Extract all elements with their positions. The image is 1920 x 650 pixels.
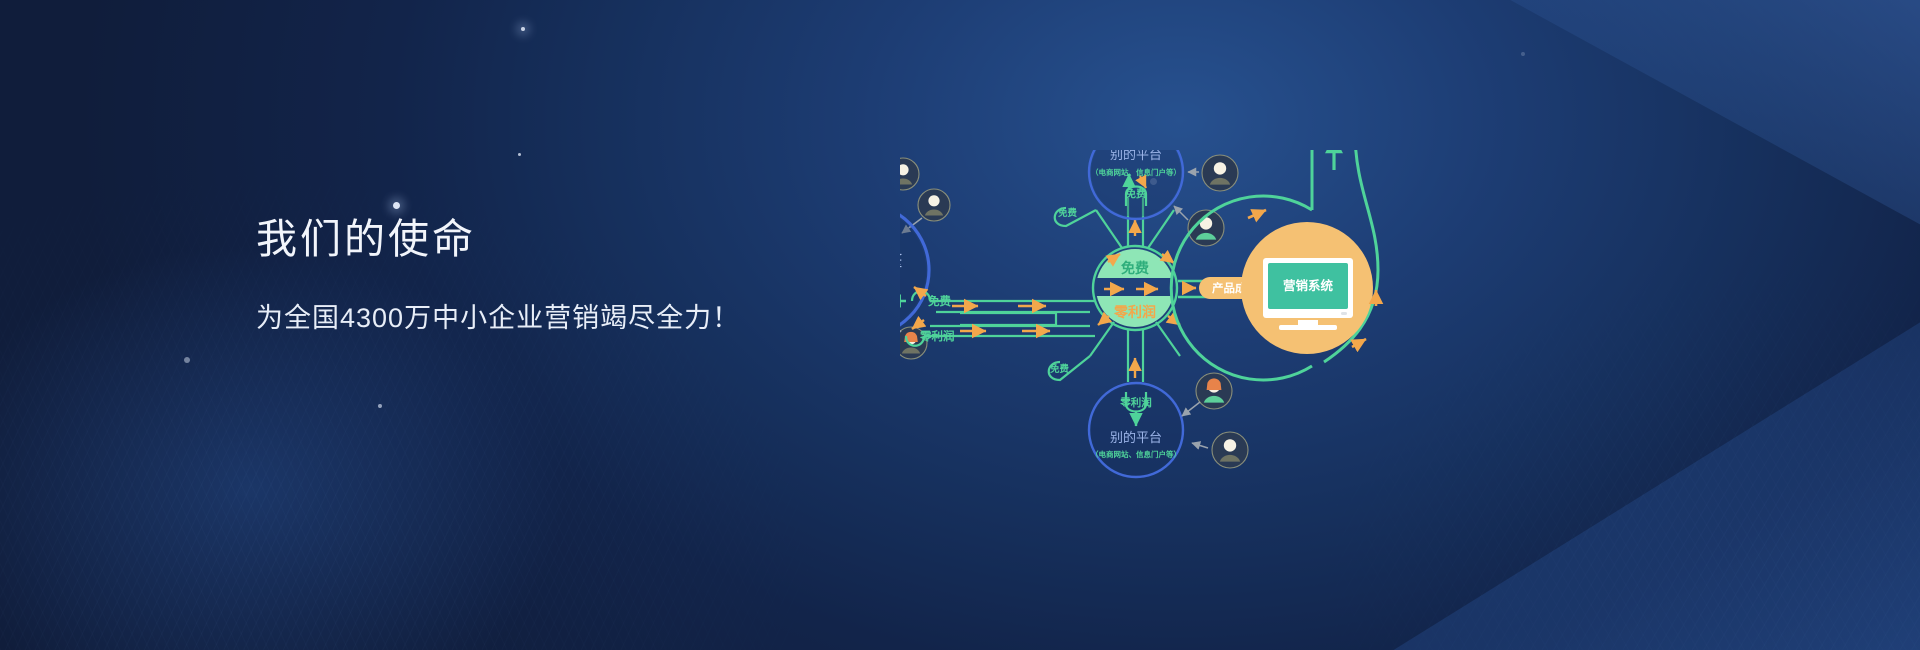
decorative-dot xyxy=(521,27,525,31)
marketing-system-node: 营销系统 xyxy=(1171,150,1378,380)
platform-bottom-inflow-arrows xyxy=(1182,402,1208,448)
hub-node: 免费 零利润 xyxy=(1093,246,1180,330)
platform-bottom-flow-label: 零利润 xyxy=(1119,396,1152,409)
search-engine-title: 搜索引擎 xyxy=(900,251,904,273)
branch-label-free-upper: 免费 xyxy=(1058,207,1078,219)
platform-bottom-node: 零利润 别的平台 （电商网站、信息门户等） xyxy=(1089,383,1183,477)
decorative-dot xyxy=(1521,52,1525,56)
marketing-ecosystem-diagram: ······ 搜索引擎 （国内、国外） xyxy=(900,150,1560,570)
hub-label-free: 免费 xyxy=(1121,260,1149,276)
pipe-label-free: 免费 xyxy=(928,294,951,308)
pipe-network: 免费 零利润 xyxy=(900,287,1095,346)
page-subtitle: 为全国4300万中小企业营销竭尽全力！ xyxy=(256,296,740,335)
page-title: 我们的使命 xyxy=(256,215,740,264)
decorative-dot xyxy=(378,404,382,408)
platform-top-subtitle: （电商网站、信息门户等） xyxy=(1091,167,1181,177)
hero-banner: 我们的使命 为全国4300万中小企业营销竭尽全力！ xyxy=(0,0,1920,650)
decorative-dot xyxy=(184,357,190,363)
pipe-label-zero-profit: 零利润 xyxy=(919,329,955,343)
search-engine-subtitle: （国内、国外） xyxy=(900,278,909,293)
platform-bottom-title: 别的平台 xyxy=(1110,430,1162,445)
avatar xyxy=(1212,432,1248,468)
marketing-system-label: 营销系统 xyxy=(1283,278,1334,293)
avatar xyxy=(900,158,919,190)
hub-label-zero-profit: 零利润 xyxy=(1113,304,1156,320)
hero-copy: 我们的使命 为全国4300万中小企业营销竭尽全力！ xyxy=(256,215,740,335)
avatar xyxy=(1196,373,1232,409)
decorative-dot xyxy=(393,202,400,209)
avatar xyxy=(918,189,950,221)
decorative-dot xyxy=(518,153,521,156)
platform-top-title: 别的平台 xyxy=(1110,150,1162,162)
platform-bottom-subtitle: （电商网站、信息门户等） xyxy=(1091,449,1181,459)
platform-top-node: 别的平台 （电商网站、信息门户等） 免费 xyxy=(1089,150,1183,219)
branch-label-free-lower: 免费 xyxy=(1050,363,1070,375)
avatar xyxy=(1202,155,1238,191)
